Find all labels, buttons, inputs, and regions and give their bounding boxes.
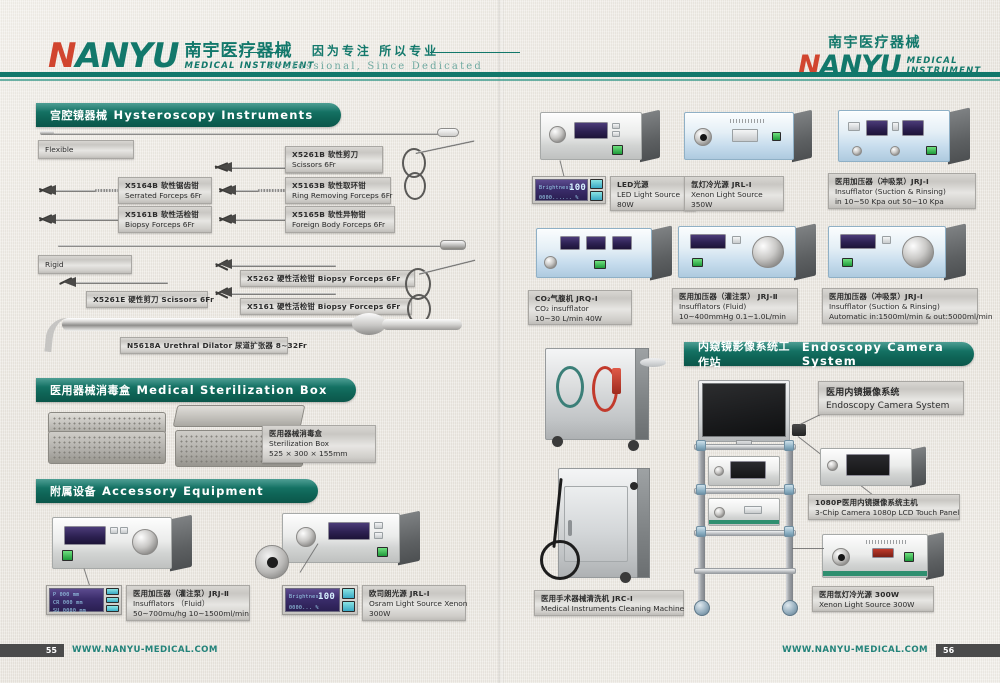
monitor-screen <box>702 383 786 437</box>
label-xenon300-en: Xenon Light Source 300W <box>819 600 927 610</box>
label-co2-cn: CO₂气腹机 JRQ-Ⅰ <box>535 294 625 304</box>
lcd-insufflator-fluid: P 000 mm CR 000 mm SU 0000 mm <box>46 585 122 615</box>
slogan-cn: 因为专注 所以专业 <box>268 42 483 59</box>
label-camera-system-cn: 医用内镜摄像系统 <box>826 387 956 400</box>
device-osram-light-source <box>282 513 400 563</box>
device-side-panel <box>170 515 192 572</box>
label-osram: 欧司朗光源 JRL-Ⅰ Osram Light Source Xenon 300… <box>362 585 466 621</box>
spray-gun-red <box>612 368 621 394</box>
label-insuf2-spec: 10~400mmHg 0.1~1.0L/min <box>679 312 791 322</box>
rigid-scope-eyepiece <box>440 240 466 250</box>
label-xenon-cn: 氙灯冷光源 JRL-Ⅰ <box>691 180 777 190</box>
device-insuf-side <box>948 107 970 164</box>
section-camera-en: Endoscopy Camera System <box>802 340 974 368</box>
label-co2-insufflator: CO₂气腹机 JRQ-Ⅰ CO₂ insufflator 10~30 L/min… <box>528 290 632 325</box>
device-xenon300-port-core <box>838 554 845 561</box>
scope-tip-left <box>40 131 54 135</box>
endoscopy-monitor <box>698 380 790 442</box>
device-xenon-300w <box>822 534 928 578</box>
label-sterilization-size: 525 × 300 × 155mm <box>269 449 369 459</box>
label-insuf2-en: Insufflators (Fluid) <box>679 302 791 312</box>
brand-wordmark-left-rest: ANYU <box>75 36 178 76</box>
device-co2-screen-1 <box>560 236 580 250</box>
lcd-key-down[interactable] <box>106 597 119 604</box>
device-co2-screen-2 <box>586 236 606 250</box>
device-led-btn-1 <box>612 123 620 129</box>
lcd-line-3: SU 0000 mm <box>53 608 86 614</box>
device-insuf-btn-2 <box>892 122 899 131</box>
tray-upper <box>640 358 666 367</box>
device-insuf2-side <box>794 223 816 280</box>
trolley-camera-unit <box>708 456 780 486</box>
device-co2-screen-3 <box>612 236 632 250</box>
trolley-shelf-3 <box>694 530 796 536</box>
device-xenon-ctrl <box>732 129 758 142</box>
footer-url-right[interactable]: WWW.NANYU-MEDICAL.COM <box>782 645 928 655</box>
device-insuf2-power <box>692 258 703 267</box>
slogan-en: Professional, Since Dedicated <box>268 61 483 72</box>
label-cleaning-en: Medical Instruments Cleaning Machine <box>541 604 677 614</box>
brand-wordmark-left: NANYU <box>48 39 178 73</box>
lcd-key-up[interactable] <box>106 588 119 595</box>
device-1080p-screen <box>846 454 890 476</box>
footer-left: 55 WWW.NANYU-MEDICAL.COM <box>0 643 218 657</box>
lcd-screen-osram: Brightness 100 0000... % <box>285 588 340 612</box>
lcd-led-value: 100 <box>569 183 586 193</box>
label-x5161b: X5161B 软性活检钳 Biopsy Forceps 6Fr <box>118 206 212 233</box>
device-osram-power <box>377 547 388 557</box>
label-1080p-cn: 1080P医用内镜摄像系统主机 <box>815 498 953 508</box>
label-x5163b: X5163B 软性取环钳 Ring Removing Forceps 6Fr <box>285 177 391 204</box>
device-insuf-screen-1 <box>866 120 888 136</box>
device-insufflator-suction-auto <box>828 226 946 278</box>
footer-url-left[interactable]: WWW.NANYU-MEDICAL.COM <box>72 645 218 655</box>
label-x5262-text: X5262 硬性活检钳 Biopsy Forceps 6Fr <box>247 274 408 284</box>
device-power-button <box>62 550 73 561</box>
lcd-osram: Brightness 100 0000... % <box>282 585 358 615</box>
section-accessory: 附属设备 Accessory Equipment <box>36 479 318 503</box>
trolley-camera-screen <box>730 461 766 479</box>
urethral-dilator-bulb <box>352 313 386 335</box>
device-xenon300-display <box>872 548 894 558</box>
label-insuf3-spec: Automatic in:1500ml/min & out:5000ml/min <box>829 312 971 322</box>
label-x5165b-cn: X5165B 软性异物钳 <box>292 210 388 220</box>
trolley-shelf-1 <box>694 444 796 450</box>
label-x5161b-en: Biopsy Forceps 6Fr <box>125 220 205 230</box>
device-insuf3-screen <box>840 234 876 249</box>
trolley-shelf-4 <box>694 568 796 574</box>
device-insuf2-btn <box>732 236 741 244</box>
label-x5161: X5161 硬性活检钳 Biopsy Forceps 6Fr <box>240 298 412 315</box>
device-insuf-screen-2 <box>902 120 924 136</box>
device-insufflator-fluid-right <box>678 226 796 278</box>
lcd-led-line-1: Brightness <box>539 185 572 191</box>
device-co2-power <box>594 260 606 269</box>
sterilization-box-closed-body <box>48 431 166 464</box>
label-x5261b-code-cn: X5261B 软性剪刀 <box>292 150 376 160</box>
device-co2-insufflator <box>536 228 652 278</box>
label-n5618a: N5618A Urethral Dilator 尿道扩张器 8~32Fr <box>120 337 288 354</box>
hose-black-loop <box>540 540 580 580</box>
label-x5262: X5262 硬性活检钳 Biopsy Forceps 6Fr <box>240 270 415 287</box>
brand-sub-right-1: MEDICAL <box>907 56 982 66</box>
label-insufflator-fluid-cn: 医用加压器（灌注泵）JRJ-Ⅱ <box>133 589 243 599</box>
label-x5261e-text: X5261E 硬性剪刀 Scissors 6Fr <box>93 295 201 305</box>
device-xenon-power <box>772 132 781 141</box>
device-xenon300-power <box>904 552 914 562</box>
device-insuf3-power <box>842 258 853 267</box>
page-gutter <box>498 0 504 683</box>
device-osram-port <box>296 527 316 547</box>
trolley-light-port <box>714 507 725 518</box>
footer-right: WWW.NANYU-MEDICAL.COM 56 <box>782 643 1000 657</box>
device-xenon300-stripe <box>823 571 927 576</box>
device-led-side <box>640 110 660 163</box>
label-x5261b-cnline: X5261B 软性剪刀 Scissors 6Fr <box>285 146 383 173</box>
label-insufflator-fluid-right: 医用加压器（灌注泵） JRJ-Ⅱ Insufflators (Fluid) 10… <box>672 288 798 324</box>
device-insuf3-rotor <box>902 236 934 268</box>
label-x5163b-cn: X5163B 软性取环钳 <box>292 181 384 191</box>
header-dash-right <box>430 52 520 53</box>
section-camera-system: 内窥镜影像系统工作站 Endoscopy Camera System <box>684 342 974 366</box>
label-x5163b-en: Ring Removing Forceps 6Fr <box>292 191 384 201</box>
lcd-screen-led: Brightness 100 0000...... % <box>535 179 588 201</box>
machine-lower-caster <box>620 572 631 583</box>
trolley-joint-4 <box>784 484 794 495</box>
trolley-joint-5 <box>696 526 706 537</box>
hose-coil-teal <box>556 366 584 408</box>
label-xenon-en: Xenon Light Source <box>691 190 777 200</box>
device-insuf3-btn <box>882 236 891 244</box>
label-insuf3-cn: 医用加压器（冲吸泵）JRJ-Ⅰ <box>829 292 971 302</box>
device-insuf-btn-1 <box>848 122 860 131</box>
device-osram-screen <box>328 522 370 540</box>
leader-xenon300 <box>792 548 824 549</box>
machine-lower-side <box>637 468 650 578</box>
device-osram-btn-2 <box>374 532 383 539</box>
trolley-shelf-2 <box>694 488 796 494</box>
trolley-light-stripe <box>709 520 779 524</box>
device-led-btn-2 <box>612 131 620 137</box>
label-n5618a-text: N5618A Urethral Dilator 尿道扩张器 8~32Fr <box>127 341 281 351</box>
scope-handle-right <box>437 128 459 137</box>
endoscope-camera-head <box>792 424 806 436</box>
label-x5164b-cn: X5164B 软性锯齿钳 <box>125 181 205 191</box>
label-insuf2-cn: 医用加压器（灌注泵） JRJ-Ⅱ <box>679 292 791 302</box>
device-insufflator-suction-top <box>838 110 950 162</box>
lcd-osram-value: 100 <box>318 592 335 602</box>
lcd-keypad-osram[interactable] <box>342 588 355 612</box>
page-number-right: 56 <box>936 644 1000 657</box>
urethral-dilator <box>62 318 362 331</box>
label-led-spec: 80W <box>617 200 689 210</box>
trolley-caster-left <box>694 600 710 616</box>
section-sterilization: 医用器械消毒盒 Medical Sterilization Box <box>36 378 356 402</box>
section-sterilization-cn: 医用器械消毒盒 <box>50 382 131 398</box>
lcd-screen-insufflator: P 000 mm CR 000 mm SU 0000 mm <box>49 588 104 612</box>
label-xenon-spec: 350W <box>691 200 777 210</box>
label-1080p-camera: 1080P医用内镜摄像系统主机 3-Chip Camera 1080p LCD … <box>808 494 960 520</box>
machine-upper-caster-1 <box>552 436 563 447</box>
label-insufflator-fluid: 医用加压器（灌注泵）JRJ-Ⅱ Insufflators （Fluid） 50~… <box>126 585 250 621</box>
label-x5165b-en: Foreign Body Forceps 6Fr <box>292 220 388 230</box>
section-accessory-cn: 附属设备 <box>50 483 96 499</box>
label-cleaning-machine: 医用手术器械清洗机 JRC-Ⅰ Medical Instruments Clea… <box>534 590 684 616</box>
label-x5161-text: X5161 硬性活检钳 Biopsy Forceps 6Fr <box>247 302 405 312</box>
label-co2-en: CO₂ insufflator <box>535 304 625 314</box>
section-hysteroscopy-cn: 宫腔镜器械 <box>50 107 108 123</box>
header-slogan: 因为专注 所以专业 Professional, Since Dedicated <box>268 42 483 72</box>
label-cleaning-cn: 医用手术器械清洗机 JRC-Ⅰ <box>541 594 677 604</box>
device-xenon300-side <box>926 532 944 580</box>
label-insuf-top-cn: 医用加压器（冲吸泵）JRJ-Ⅰ <box>835 177 969 187</box>
device-insuf-port-2 <box>890 146 900 156</box>
machine-upper-caster-2 <box>628 440 639 451</box>
trolley-joint-2 <box>784 440 794 451</box>
machine-lower-knob <box>630 482 638 490</box>
device-led-screen <box>574 122 608 139</box>
label-osram-cn: 欧司朗光源 JRL-Ⅰ <box>369 589 459 599</box>
device-button-2 <box>120 527 128 534</box>
label-led-en: LED Light Source <box>617 190 689 200</box>
device-co2-side <box>650 225 672 280</box>
lcd-key-enter[interactable] <box>106 605 119 612</box>
label-camera-system-en: Endoscopy Camera System <box>826 400 956 413</box>
trolley-joint-1 <box>696 440 706 451</box>
page-number-left: 55 <box>0 644 64 657</box>
header-rule-thin <box>0 79 1000 81</box>
device-screen <box>64 526 106 545</box>
label-xenon-300w: 医用氙灯冷光源 300W Xenon Light Source 300W <box>812 586 934 612</box>
group-label-rigid-text: Rigid <box>45 260 125 270</box>
device-led-knob <box>549 126 566 143</box>
label-x5261b-en2: Scissors 6Fr <box>292 160 376 170</box>
perforation-pattern <box>52 416 162 430</box>
device-led-power <box>612 145 623 155</box>
page-header: NANYU 南宇医疗器械 MEDICAL INSTRUMENT 因为专注 所以专… <box>0 0 1000 86</box>
device-led-light-source <box>540 112 642 160</box>
trolley-light-display <box>744 506 762 514</box>
device-button-1 <box>110 527 118 534</box>
label-osram-spec: 300W <box>369 609 459 619</box>
label-led-cn: LED光源 <box>617 180 689 190</box>
label-insufflator-suction-auto: 医用加压器（冲吸泵）JRJ-Ⅰ Insufflator (Suction & R… <box>822 288 978 324</box>
device-osram-side <box>398 511 420 566</box>
label-xenon300-cn: 医用氙灯冷光源 300W <box>819 590 927 600</box>
lcd-led-line-2: 0000...... % <box>539 195 579 201</box>
device-insuf2-screen <box>690 234 726 249</box>
device-co2-port <box>544 256 557 269</box>
group-label-rigid: Rigid <box>38 255 132 274</box>
device-1080p-camera <box>820 448 912 486</box>
lcd-line-1: P 000 mm <box>53 592 79 598</box>
trolley-caster-right <box>782 600 798 616</box>
device-insuf2-rotor <box>752 236 784 268</box>
device-insuf-port-1 <box>852 146 862 156</box>
device-large-knob <box>132 529 158 555</box>
label-insufflator-fluid-en: Insufflators （Fluid） <box>133 599 243 609</box>
label-x5261e: X5261E 硬性剪刀 Scissors 6Fr <box>86 291 208 308</box>
section-hysteroscopy: 宫腔镜器械 Hysteroscopy Instruments <box>36 103 341 127</box>
lcd-led-key-down[interactable] <box>590 191 603 201</box>
device-insuf-power <box>926 146 937 155</box>
lcd-led: Brightness 100 0000...... % <box>532 176 606 204</box>
flexible-scope-shaft <box>42 133 442 135</box>
label-x5164b-en: Serrated Forceps 6Fr <box>125 191 205 201</box>
light-cable-adapter-core <box>267 557 278 568</box>
label-x5161b-cn: X5161B 软性活检钳 <box>125 210 205 220</box>
label-camera-system: 医用内镜摄像系统 Endoscopy Camera System <box>818 381 964 415</box>
label-insuf3-en: Insufflator (Suction & Rinsing) <box>829 302 971 312</box>
group-label-flexible: Flexible <box>38 140 134 159</box>
label-xenon-light-source: 氙灯冷光源 JRL-Ⅰ Xenon Light Source 350W <box>684 176 784 211</box>
brand-cn-right: 南宇医疗器械 <box>798 32 981 52</box>
forceps-ring-handle-lower <box>404 172 426 200</box>
device-xenon300-vent <box>866 540 906 544</box>
label-insuf-top-spec: in 10~50 Kpa out 50~10 Kpa <box>835 197 969 207</box>
lcd-osram-key-down[interactable] <box>342 601 355 612</box>
machine-lower-handle <box>568 520 572 536</box>
sterilization-box-closed <box>48 412 166 464</box>
trolley-light-unit <box>708 498 780 526</box>
lcd-led-key-up[interactable] <box>590 179 603 189</box>
perforation-pattern-2 <box>52 435 162 460</box>
device-1080p-side <box>910 446 926 487</box>
label-sterilization-box: 医用器械消毒盒 Sterilization Box 525 × 300 × 15… <box>262 425 376 463</box>
lcd-keypad-led[interactable] <box>590 179 603 201</box>
device-insuf3-side <box>944 223 966 280</box>
trolley-joint-6 <box>784 526 794 537</box>
label-x5165b: X5165B 软性异物钳 Foreign Body Forceps 6Fr <box>285 206 395 233</box>
section-hysteroscopy-en: Hysteroscopy Instruments <box>114 108 314 122</box>
label-co2-spec: 10~30 L/min 40W <box>535 314 625 324</box>
device-1080p-knob <box>827 460 838 471</box>
sterilization-box-open-lid <box>173 405 306 427</box>
trolley-camera-knob <box>714 466 724 476</box>
section-sterilization-en: Medical Sterilization Box <box>137 383 328 397</box>
label-x5164b: X5164B 软性锯齿钳 Serrated Forceps 6Fr <box>118 177 212 204</box>
lcd-line-2: CR 000 mm <box>53 600 83 606</box>
device-xenon-side <box>792 110 812 163</box>
label-sterilization-en: Sterilization Box <box>269 439 369 449</box>
label-osram-en: Osram Light Source Xenon <box>369 599 459 609</box>
lcd-osram-line-2: 0000... % <box>289 605 319 611</box>
trolley-joint-3 <box>696 484 706 495</box>
rigid-scope-shaft <box>58 245 448 247</box>
section-accessory-en: Accessory Equipment <box>102 484 264 498</box>
urethral-dilator-tail <box>382 319 462 330</box>
label-insufflator-suction-top: 医用加压器（冲吸泵）JRJ-Ⅰ Insufflator (Suction & R… <box>828 173 976 209</box>
group-label-flexible-text: Flexible <box>45 145 127 155</box>
device-xenon-vent <box>730 119 766 123</box>
device-xenon-port-core <box>700 134 707 141</box>
label-insufflator-fluid-spec: 50~700mu/hg 10~1500ml/min <box>133 609 243 619</box>
label-1080p-en: 3-Chip Camera 1080p LCD Touch Panel <box>815 508 953 518</box>
lcd-osram-key-up[interactable] <box>342 588 355 599</box>
lcd-keypad-insufflator[interactable] <box>106 588 119 612</box>
label-sterilization-cn: 医用器械消毒盒 <box>269 429 369 439</box>
device-insufflator-fluid <box>52 517 172 569</box>
header-rule <box>0 72 1000 77</box>
label-insuf-top-en: Insufflator (Suction & Rinsing) <box>835 187 969 197</box>
device-osram-btn-1 <box>374 522 383 529</box>
device-xenon-light-source <box>684 112 794 160</box>
section-camera-cn: 内窥镜影像系统工作站 <box>698 338 796 370</box>
